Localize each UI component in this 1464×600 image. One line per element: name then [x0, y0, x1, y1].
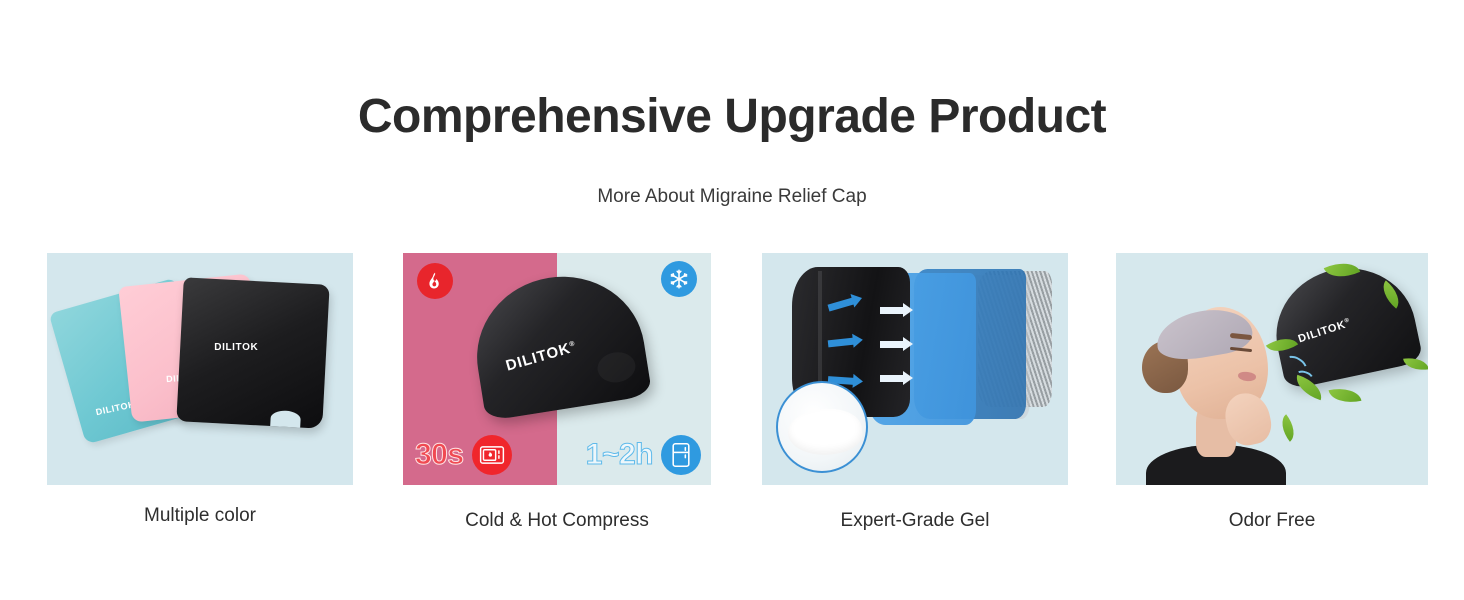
metric-value: 1~2h: [586, 439, 653, 471]
refrigerator-icon: [661, 435, 701, 475]
product-feature-banner: Comprehensive Upgrade Product More About…: [0, 0, 1464, 600]
feature-image-expert-grade-gel: [762, 253, 1068, 485]
metric-value: 30s: [415, 439, 464, 471]
model-photo: [1138, 279, 1288, 485]
page-title: Comprehensive Upgrade Product: [0, 88, 1464, 146]
metric-heating-time: 30s: [415, 435, 512, 475]
feature-image-cold-hot-compress: DILITOK® 30s 1~2h: [403, 253, 711, 485]
feature-card-odor-free[interactable]: DILITOK® Odor Free: [1116, 253, 1428, 533]
brand-logo: DILITOK: [214, 342, 258, 353]
cap-swatch-black: DILITOK: [176, 277, 329, 428]
feature-caption: Cold & Hot Compress: [403, 509, 711, 533]
page-subtitle: More About Migraine Relief Cap: [0, 184, 1464, 210]
metric-cooling-time: 1~2h: [586, 435, 701, 475]
flow-arrow-icon: [880, 375, 904, 382]
flow-arrow-icon: [880, 307, 904, 314]
feature-row: DILITOK DILITOK DILITOK Multiple color: [0, 253, 1464, 553]
brand-logo: DILITOK®: [1297, 317, 1353, 345]
flame-icon: [417, 263, 453, 299]
microwave-icon: [472, 435, 512, 475]
feature-caption: Expert-Grade Gel: [762, 509, 1068, 533]
feature-image-odor-free: DILITOK®: [1116, 253, 1428, 485]
feature-caption: Odor Free: [1116, 509, 1428, 533]
gel-closeup-inset: [776, 381, 868, 473]
feature-card-multiple-color[interactable]: DILITOK DILITOK DILITOK Multiple color: [47, 253, 353, 528]
feature-caption: Multiple color: [47, 504, 353, 528]
brand-logo: DILITOK®: [504, 338, 579, 374]
snowflake-icon: [661, 261, 697, 297]
feature-image-multiple-color: DILITOK DILITOK DILITOK: [47, 253, 353, 485]
feature-card-cold-hot-compress[interactable]: DILITOK® 30s 1~2h: [403, 253, 711, 533]
flow-arrow-icon: [880, 341, 904, 348]
feature-card-expert-grade-gel[interactable]: Expert-Grade Gel: [762, 253, 1068, 533]
